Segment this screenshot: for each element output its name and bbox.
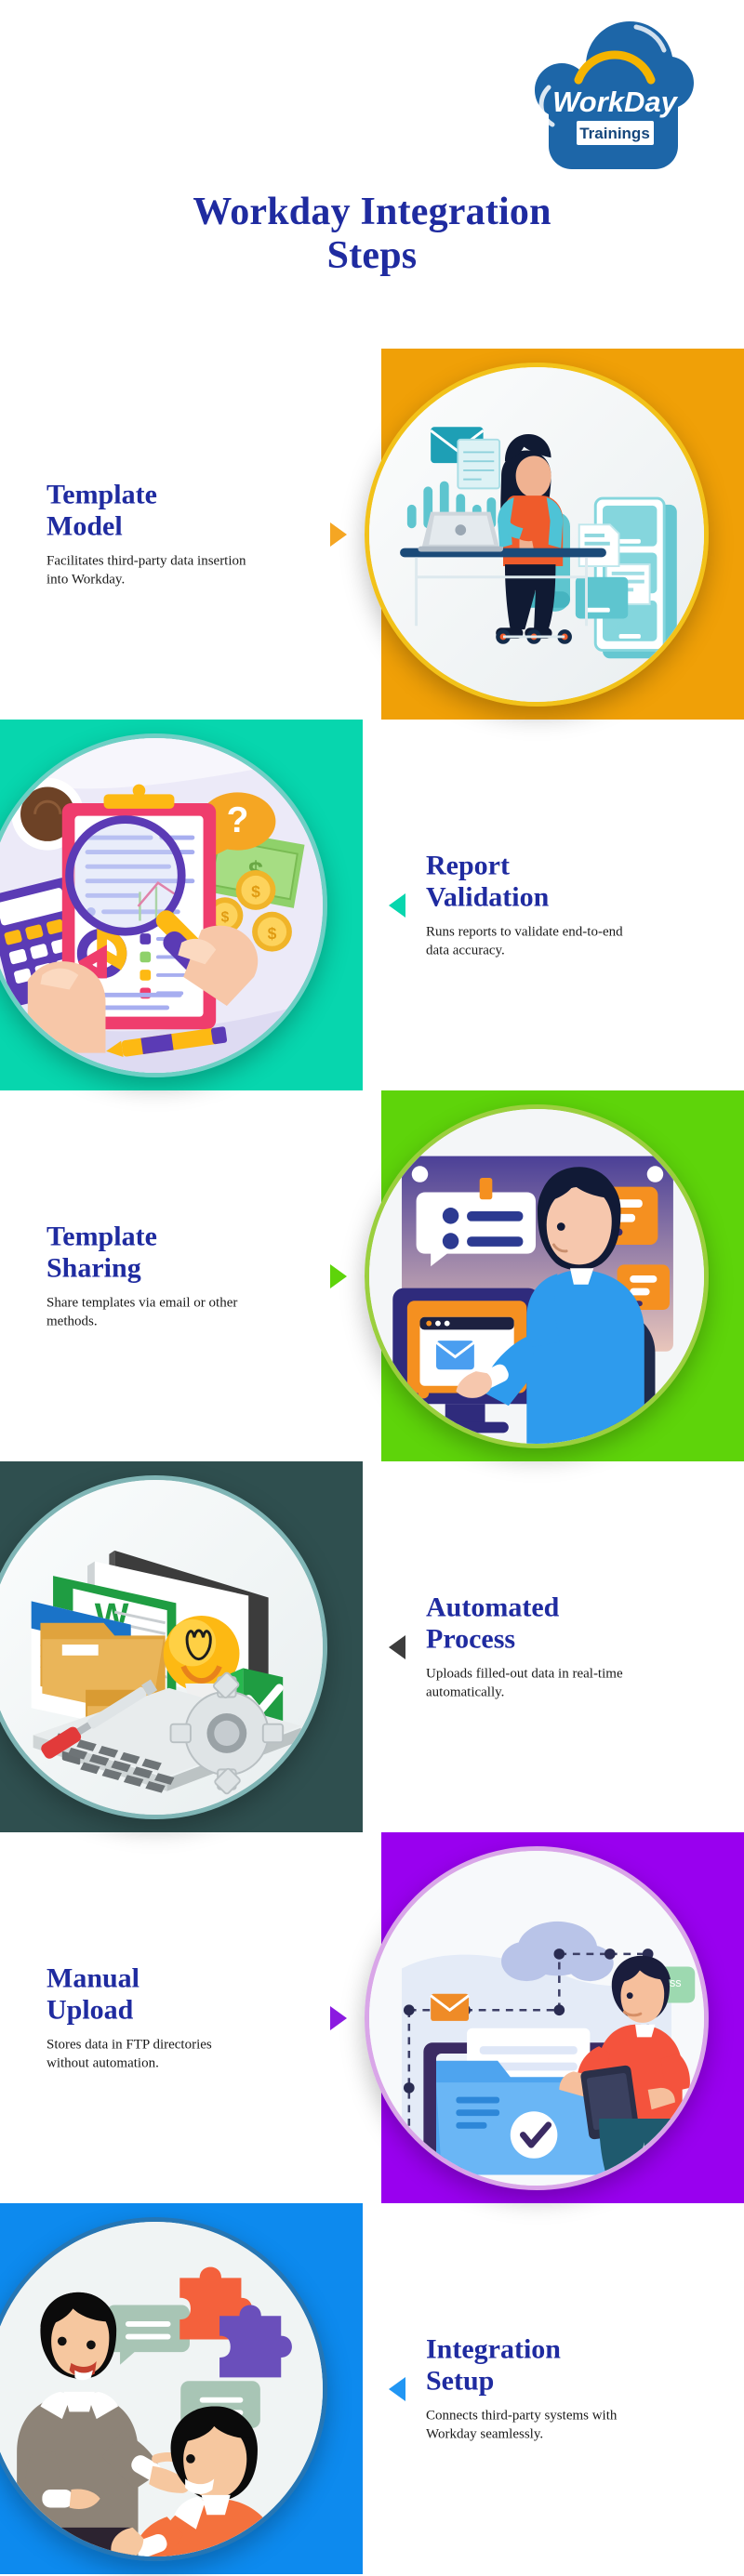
step-illustration-circle: Access (365, 1832, 727, 2203)
illustration-two-men-talking-with-puzzle-pieces (0, 2217, 327, 2561)
step-illustration-circle (365, 1090, 727, 1461)
step-title: ManualUpload (46, 1962, 353, 2028)
page-title-line-1: Workday Integration (193, 191, 551, 233)
step-block-manual-upload: Access ManualUploadStores data in FTP di… (0, 1832, 744, 2203)
step-title-line-1: Integration (426, 2333, 561, 2364)
step-description: Uploads filled-out data in real-time aut… (426, 1666, 631, 1703)
workday-trainings-logo: WorkDay Trainings (521, 7, 707, 175)
step-text-manual-upload: ManualUploadStores data in FTP directori… (46, 1962, 353, 2073)
step-text-report-validation: ReportValidationRuns reports to validate… (426, 850, 733, 960)
step-title-line-1: Manual (46, 1962, 139, 1993)
step-description: Share templates via email or other metho… (46, 1295, 251, 1332)
step-block-integration-setup: IntegrationSetupConnects third-party sys… (0, 2203, 744, 2574)
step-title-line-2: Setup (426, 2366, 494, 2397)
step-title: IntegrationSetup (426, 2333, 733, 2398)
step-arrow-left (389, 2377, 405, 2401)
step-text-template-sharing: TemplateSharingShare templates via email… (46, 1221, 353, 1331)
step-title: TemplateModel (46, 479, 353, 544)
svg-text:$: $ (268, 924, 277, 943)
page-title: Workday Integration Steps (0, 191, 744, 278)
step-title: TemplateSharing (46, 1221, 353, 1286)
step-text-template-model: TemplateModelFacilitates third-party dat… (46, 479, 353, 589)
logo-cloud-icon: WorkDay Trainings (521, 7, 707, 175)
step-block-automated-process: W (0, 1461, 744, 1832)
step-title: AutomatedProcess (426, 1592, 733, 1657)
infographic-header: WorkDay Trainings Workday Integration St… (0, 0, 744, 349)
step-title-line-2: Validation (426, 882, 549, 913)
step-arrow-left (389, 893, 405, 918)
svg-text:?: ? (227, 800, 249, 840)
step-block-template-sharing: TemplateSharingShare templates via email… (0, 1090, 744, 1461)
illustration-isometric-documents-keyboard-bulb-gear: W (0, 1475, 327, 1819)
step-title-line-1: Report (426, 850, 510, 880)
step-illustration-circle: W (0, 1461, 346, 1832)
svg-text:$: $ (221, 909, 230, 925)
logo-subtitle: Trainings (579, 125, 650, 142)
illustration-woman-at-desk-with-laptop-and-filing-cabinet (365, 363, 709, 707)
logo-wordmark: WorkDay (552, 86, 679, 118)
illustration-man-with-tablet-folder-cloud-flow: Access (365, 1846, 709, 2190)
svg-text:$: $ (251, 882, 260, 901)
step-title-line-1: Template (46, 1221, 157, 1251)
step-title-line-2: Process (426, 1624, 515, 1655)
step-title-line-1: Automated (426, 1592, 559, 1622)
step-arrow-left (389, 1635, 405, 1659)
step-illustration-circle (365, 349, 727, 720)
step-title: ReportValidation (426, 850, 733, 915)
step-illustration-circle: $ $ $ $ ? (0, 720, 346, 1090)
step-title-line-1: Template (46, 479, 157, 509)
step-description: Facilitates third-party data insertion i… (46, 553, 251, 590)
step-text-integration-setup: IntegrationSetupConnects third-party sys… (426, 2333, 733, 2444)
step-description: Runs reports to validate end-to-end data… (426, 924, 631, 961)
illustration-man-at-monitor-sending-email (365, 1104, 709, 1448)
step-title-line-2: Model (46, 511, 123, 542)
step-text-automated-process: AutomatedProcessUploads filled-out data … (426, 1592, 733, 1702)
step-description: Connects third-party systems with Workda… (426, 2408, 631, 2445)
step-block-report-validation: $ $ $ $ ? (0, 720, 744, 1090)
step-title-line-2: Sharing (46, 1253, 141, 1284)
page-title-line-2: Steps (327, 234, 418, 277)
illustration-hands-inspecting-clipboard-with-magnifier: $ $ $ $ ? (0, 733, 327, 1077)
step-illustration-circle (0, 2203, 346, 2574)
step-description: Stores data in FTP directories without a… (46, 2037, 251, 2074)
step-title-line-2: Upload (46, 1995, 133, 2026)
step-block-template-model: TemplateModelFacilitates third-party dat… (0, 349, 744, 720)
